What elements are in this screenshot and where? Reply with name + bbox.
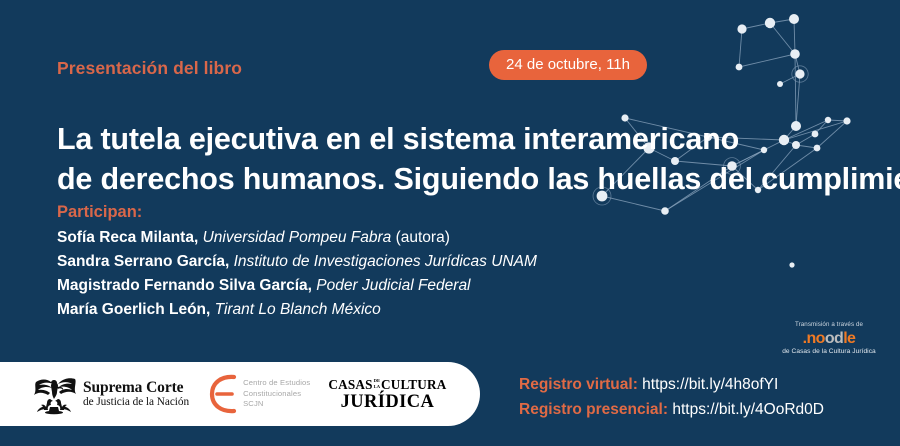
casas-line-1: CASAS DE LA CULTURA <box>328 377 446 392</box>
suprema-corte-line-1: Suprema Corte <box>83 379 189 396</box>
registration-row: Registro presencial: https://bit.ly/4OoR… <box>519 397 824 422</box>
mexican-eagle-emblem-icon <box>32 373 78 415</box>
participant-row: Magistrado Fernando Silva García, Poder … <box>57 274 617 297</box>
participant-affiliation: Tirant Lo Blanch México <box>215 301 381 318</box>
casas-small-la: LA <box>374 384 380 389</box>
cec-line-1: Centro de Estudios <box>243 378 310 389</box>
participant-note: (autora) <box>396 229 450 246</box>
participant-row: Sandra Serrano García, Instituto de Inve… <box>57 250 617 273</box>
suprema-corte-line-2: de Justicia de la Nación <box>83 396 189 409</box>
participant-affiliation: Instituto de Investigaciones Jurídicas U… <box>234 253 537 270</box>
event-poster: Presentación del libro 24 de octubre, 11… <box>0 0 900 446</box>
casas-small-dela: DE LA <box>374 378 380 388</box>
registration-label: Registro presencial: <box>519 401 668 418</box>
moodle-word-part-2: od <box>825 330 843 347</box>
participant-name: Magistrado Fernando Silva García, <box>57 277 312 294</box>
cec-wordmark: Centro de Estudios Constitucionales SCJN <box>243 378 310 410</box>
title-line-1: La tutela ejecutiva en el sistema intera… <box>57 119 867 159</box>
participants-list: Sofía Reca Milanta, Universidad Pompeu F… <box>57 226 617 321</box>
participant-row: Sofía Reca Milanta, Universidad Pompeu F… <box>57 226 617 249</box>
moodle-word-part-3: le <box>843 330 855 347</box>
eyebrow-label: Presentación del libro <box>57 55 900 81</box>
participant-name: Sofía Reca Milanta, <box>57 229 198 246</box>
participant-affiliation: Poder Judicial Federal <box>316 277 470 294</box>
title-line-2: de derechos humanos. Siguiendo las huell… <box>57 159 867 199</box>
moodle-logo: .noodle <box>766 330 892 347</box>
cec-line-3: SCJN <box>243 399 310 410</box>
participants-section: Participan: Sofía Reca Milanta, Universi… <box>57 200 617 322</box>
participant-affiliation: Universidad Pompeu Fabra <box>203 229 392 246</box>
moodle-word-part-1: no <box>806 330 824 347</box>
participant-row: María Goerlich León, Tirant Lo Blanch Mé… <box>57 298 617 321</box>
cec-c-mark-icon <box>207 371 237 417</box>
participants-label: Participan: <box>57 200 617 224</box>
suprema-corte-wordmark: Suprema Corte de Justicia de la Nación <box>83 379 189 409</box>
casas-line-2: JURÍDICA <box>328 392 446 412</box>
casas-word-cultura: CULTURA <box>381 377 446 392</box>
date-badge: 24 de octubre, 11h <box>489 50 647 80</box>
registration-url[interactable]: https://bit.ly/4OoRd0D <box>672 401 824 418</box>
cec-line-2: Constitucionales <box>243 389 310 400</box>
logo-casas-cultura-juridica: CASAS DE LA CULTURA JURÍDICA <box>328 377 446 412</box>
page-title: La tutela ejecutiva en el sistema intera… <box>57 119 867 199</box>
registration-row: Registro virtual: https://bit.ly/4h8ofYI <box>519 372 824 397</box>
casas-word-casas: CASAS <box>328 377 372 392</box>
logo-bar: Suprema Corte de Justicia de la Nación C… <box>0 362 480 426</box>
registration-links: Registro virtual: https://bit.ly/4h8ofYI… <box>519 372 824 422</box>
moodle-transmission-block: Transmisión a través de .noodle de Casas… <box>766 320 892 357</box>
logo-suprema-corte: Suprema Corte de Justicia de la Nación <box>32 373 189 415</box>
header-row: Presentación del libro 24 de octubre, 11… <box>57 55 900 89</box>
registration-label: Registro virtual: <box>519 376 638 393</box>
logo-centro-estudios-constitucionales: Centro de Estudios Constitucionales SCJN <box>207 371 310 417</box>
moodle-top-line: Transmisión a través de <box>766 320 892 329</box>
participant-name: María Goerlich León, <box>57 301 210 318</box>
participant-name: Sandra Serrano García, <box>57 253 229 270</box>
moodle-bottom-line: de Casas de la Cultura Jurídica <box>766 347 892 357</box>
registration-url[interactable]: https://bit.ly/4h8ofYI <box>642 376 778 393</box>
